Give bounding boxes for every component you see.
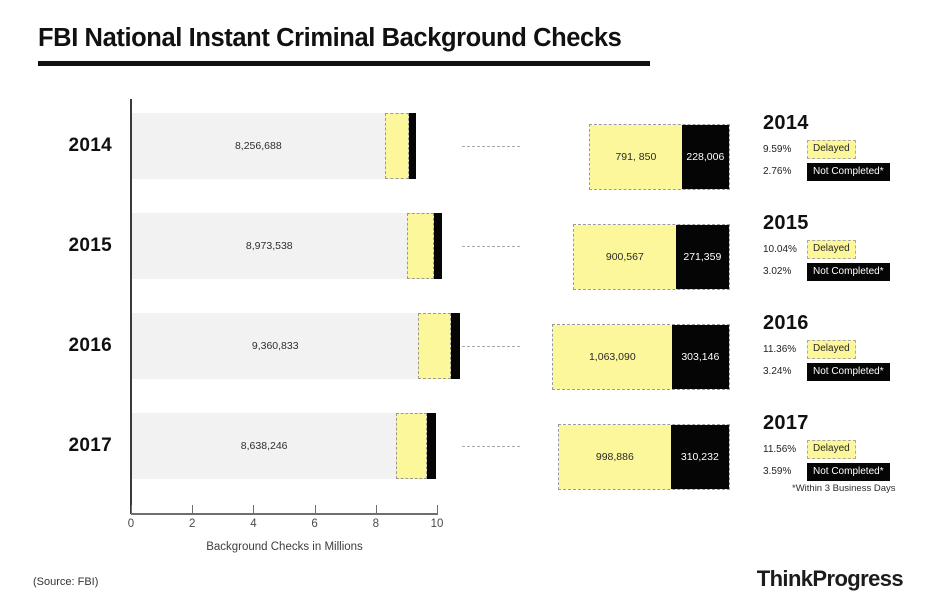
stacked-bar: 8,638,246: [132, 413, 436, 479]
status-badge-not-completed: Not Completed*: [807, 163, 890, 182]
x-tick-label: 6: [311, 518, 317, 530]
detail-not-completed-segment: 228,006: [682, 125, 729, 189]
legend-row-delayed: 11.36%Delayed: [763, 340, 941, 359]
detail-not-completed-value: 228,006: [686, 151, 724, 163]
x-tick-label: 4: [250, 518, 256, 530]
stacked-bar: 8,256,688: [132, 113, 416, 179]
legend-year-label: 2017: [763, 413, 941, 433]
legend-delayed-percent: 9.59%: [763, 144, 807, 155]
bar-segment-completed: 8,973,538: [132, 213, 407, 279]
detail-delayed-segment: 791, 850: [590, 125, 682, 189]
chart-row: 20158,973,538900,567271,359201510.04%Del…: [0, 213, 941, 279]
detail-delayed-segment: 998,886: [559, 425, 671, 489]
legend-delayed-percent: 11.56%: [763, 444, 807, 455]
x-tick-mark: [131, 505, 132, 514]
legend-row-not-completed: 3.24%Not Completed*: [763, 363, 941, 382]
detail-not-completed-value: 271,359: [683, 251, 721, 263]
x-axis-title: Background Checks in Millions: [131, 541, 438, 553]
stacked-bar: 8,973,538: [132, 213, 442, 279]
bar-segment-completed-label: 8,256,688: [132, 140, 385, 152]
legend-delayed-percent: 11.36%: [763, 344, 807, 355]
detail-callout-box: 1,063,090303,146: [552, 324, 730, 390]
x-axis-line: [131, 513, 438, 515]
legend-year-label: 2016: [763, 313, 941, 333]
status-badge-delayed: Delayed: [807, 140, 856, 159]
brand-logo: ThinkProgress: [757, 566, 903, 592]
bar-segment-completed: 9,360,833: [132, 313, 418, 379]
detail-delayed-value: 998,886: [596, 451, 634, 463]
x-tick-mark: [253, 505, 254, 514]
status-badge-delayed: Delayed: [807, 440, 856, 459]
callout-connector: [462, 246, 520, 247]
legend-not-completed-percent: 2.76%: [763, 166, 807, 177]
bar-segment-delayed: [396, 413, 427, 479]
status-badge-not-completed: Not Completed*: [807, 363, 890, 382]
row-year-label: 2015: [0, 235, 112, 257]
bar-segment-completed-label: 9,360,833: [132, 340, 418, 352]
callout-connector: [462, 446, 520, 447]
chart-row: 20178,638,246998,886310,232201711.56%Del…: [0, 413, 941, 479]
detail-not-completed-value: 310,232: [681, 451, 719, 463]
row-year-label: 2014: [0, 135, 112, 157]
bar-segment-delayed: [385, 113, 409, 179]
legend-delayed-percent: 10.04%: [763, 244, 807, 255]
x-tick-label: 10: [431, 518, 444, 530]
bar-segment-not-completed: [427, 413, 436, 479]
legend-not-completed-percent: 3.02%: [763, 266, 807, 277]
row-year-label: 2017: [0, 435, 112, 457]
status-badge-delayed: Delayed: [807, 340, 856, 359]
legend-row-not-completed: 3.59%Not Completed*: [763, 463, 941, 482]
bar-segment-not-completed: [409, 113, 416, 179]
bar-segment-completed-label: 8,638,246: [132, 440, 396, 452]
bar-segment-completed-label: 8,973,538: [132, 240, 407, 252]
bar-segment-delayed: [418, 313, 451, 379]
legend-row-delayed: 11.56%Delayed: [763, 440, 941, 459]
x-tick-mark: [437, 505, 438, 514]
chart-row: 20169,360,8331,063,090303,146201611.36%D…: [0, 313, 941, 379]
status-badge-delayed: Delayed: [807, 240, 856, 259]
bar-segment-not-completed: [451, 313, 460, 379]
detail-delayed-segment: 900,567: [574, 225, 676, 289]
stacked-bar: 9,360,833: [132, 313, 460, 379]
bar-segment-completed: 8,638,246: [132, 413, 396, 479]
footnote-text: *Within 3 Business Days: [792, 483, 895, 494]
detail-delayed-value: 1,063,090: [589, 351, 636, 363]
detail-delayed-value: 900,567: [606, 251, 644, 263]
legend-row-not-completed: 3.02%Not Completed*: [763, 263, 941, 282]
detail-callout-box: 791, 850228,006: [589, 124, 730, 190]
detail-callout-box: 998,886310,232: [558, 424, 730, 490]
bar-segment-not-completed: [434, 213, 442, 279]
legend-year-label: 2015: [763, 213, 941, 233]
x-tick-label: 0: [128, 518, 134, 530]
source-note: (Source: FBI): [33, 576, 98, 588]
chart-row: 20148,256,688791, 850228,00620149.59%Del…: [0, 113, 941, 179]
x-tick-mark: [376, 505, 377, 514]
detail-not-completed-segment: 271,359: [676, 225, 729, 289]
bar-segment-delayed: [407, 213, 435, 279]
status-badge-not-completed: Not Completed*: [807, 263, 890, 282]
x-tick-label: 8: [373, 518, 379, 530]
chart-plot-area: 0246810 Background Checks in Millions 20…: [0, 0, 941, 615]
legend-row-not-completed: 2.76%Not Completed*: [763, 163, 941, 182]
row-legend-block: 20149.59%Delayed2.76%Not Completed*: [763, 113, 941, 185]
status-badge-not-completed: Not Completed*: [807, 463, 890, 482]
detail-delayed-value: 791, 850: [615, 151, 656, 163]
detail-callout-box: 900,567271,359: [573, 224, 730, 290]
legend-not-completed-percent: 3.24%: [763, 366, 807, 377]
callout-connector: [462, 346, 520, 347]
legend-row-delayed: 10.04%Delayed: [763, 240, 941, 259]
detail-not-completed-segment: 310,232: [671, 425, 729, 489]
row-legend-block: 201611.36%Delayed3.24%Not Completed*: [763, 313, 941, 385]
legend-not-completed-percent: 3.59%: [763, 466, 807, 477]
x-tick-label: 2: [189, 518, 195, 530]
detail-delayed-segment: 1,063,090: [553, 325, 672, 389]
callout-connector: [462, 146, 520, 147]
x-tick-mark: [315, 505, 316, 514]
bar-segment-completed: 8,256,688: [132, 113, 385, 179]
row-year-label: 2016: [0, 335, 112, 357]
row-legend-block: 201711.56%Delayed3.59%Not Completed*: [763, 413, 941, 485]
detail-not-completed-segment: 303,146: [672, 325, 729, 389]
x-tick-mark: [192, 505, 193, 514]
row-legend-block: 201510.04%Delayed3.02%Not Completed*: [763, 213, 941, 285]
detail-not-completed-value: 303,146: [681, 351, 719, 363]
legend-year-label: 2014: [763, 113, 941, 133]
legend-row-delayed: 9.59%Delayed: [763, 140, 941, 159]
